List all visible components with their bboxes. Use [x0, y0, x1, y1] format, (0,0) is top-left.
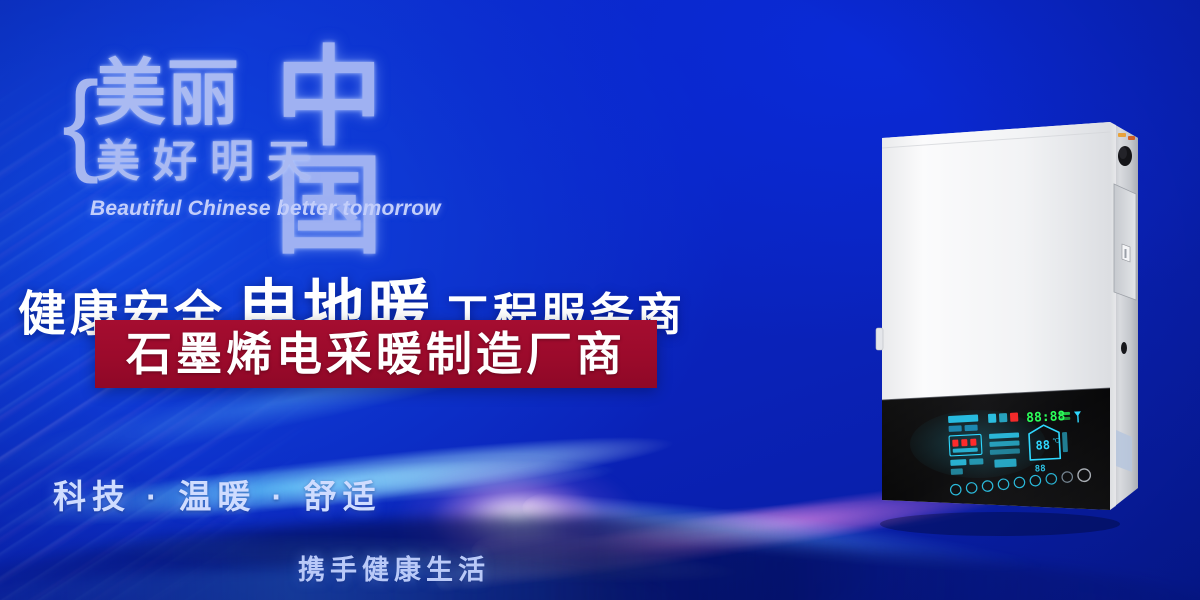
lcd-indicator-red-3 [970, 439, 976, 446]
lcd-label-a [949, 425, 962, 432]
lcd-indicator-red-1 [952, 440, 958, 447]
red-banner: 石墨烯电采暖制造厂商 [95, 320, 657, 388]
lcd-indicator-red-2 [961, 439, 967, 446]
product-side-switch-slot [1125, 249, 1127, 258]
lcd-sub-bar-1 [950, 459, 966, 466]
product-connector-orange [1128, 136, 1135, 140]
tagline-secondary: 携手健康生活 [298, 548, 490, 587]
lcd-center-value [994, 459, 1016, 468]
lcd-room-temp: 88 [1035, 438, 1050, 453]
product-side-vent [1116, 430, 1132, 472]
lcd-sub-bar-2 [969, 458, 983, 465]
lcd-temp-unit: ℃ [1052, 437, 1059, 444]
logo-line-2: 美好明天 [96, 140, 324, 184]
product-shadow [880, 512, 1120, 536]
product-port-bottom-icon [1121, 342, 1127, 354]
lcd-label-b [964, 425, 977, 432]
lcd-clock-tick-2 [1060, 417, 1070, 421]
red-banner-text: 石墨烯电采暖制造厂商 [95, 331, 657, 377]
product-side-access-panel [1114, 184, 1136, 300]
product-electric-boiler: 88:88 88 ℃ 88 [860, 100, 1160, 540]
lcd-center-icon-1 [988, 414, 996, 423]
promo-banner: { 美丽 中国 美好明天 Beautiful Chinese better to… [0, 0, 1200, 600]
lcd-sub-bar-3 [951, 468, 963, 475]
logo-lockup: { 美丽 中国 美好明天 Beautiful Chinese better to… [62, 48, 482, 223]
lcd-clock-digits: 88:88 [1026, 409, 1066, 426]
product-left-fitting [876, 328, 883, 350]
logo-english-tagline: Beautiful Chinese better tomorrow [90, 198, 441, 219]
product-side-edge-highlight [1110, 122, 1116, 510]
product-connector-amber [1118, 133, 1126, 137]
lcd-water-temp: 88 [1035, 464, 1046, 475]
lcd-side-gauge [1062, 432, 1068, 452]
tagline-primary: 科技 · 温暖 · 舒适 [53, 470, 382, 518]
logo-line-1: 美丽 [94, 58, 240, 130]
lcd-center-icon-red [1010, 412, 1018, 421]
product-port-top-inner [1119, 147, 1127, 159]
lcd-center-icon-2 [999, 413, 1007, 422]
lcd-clock-tick-1 [1060, 412, 1070, 416]
